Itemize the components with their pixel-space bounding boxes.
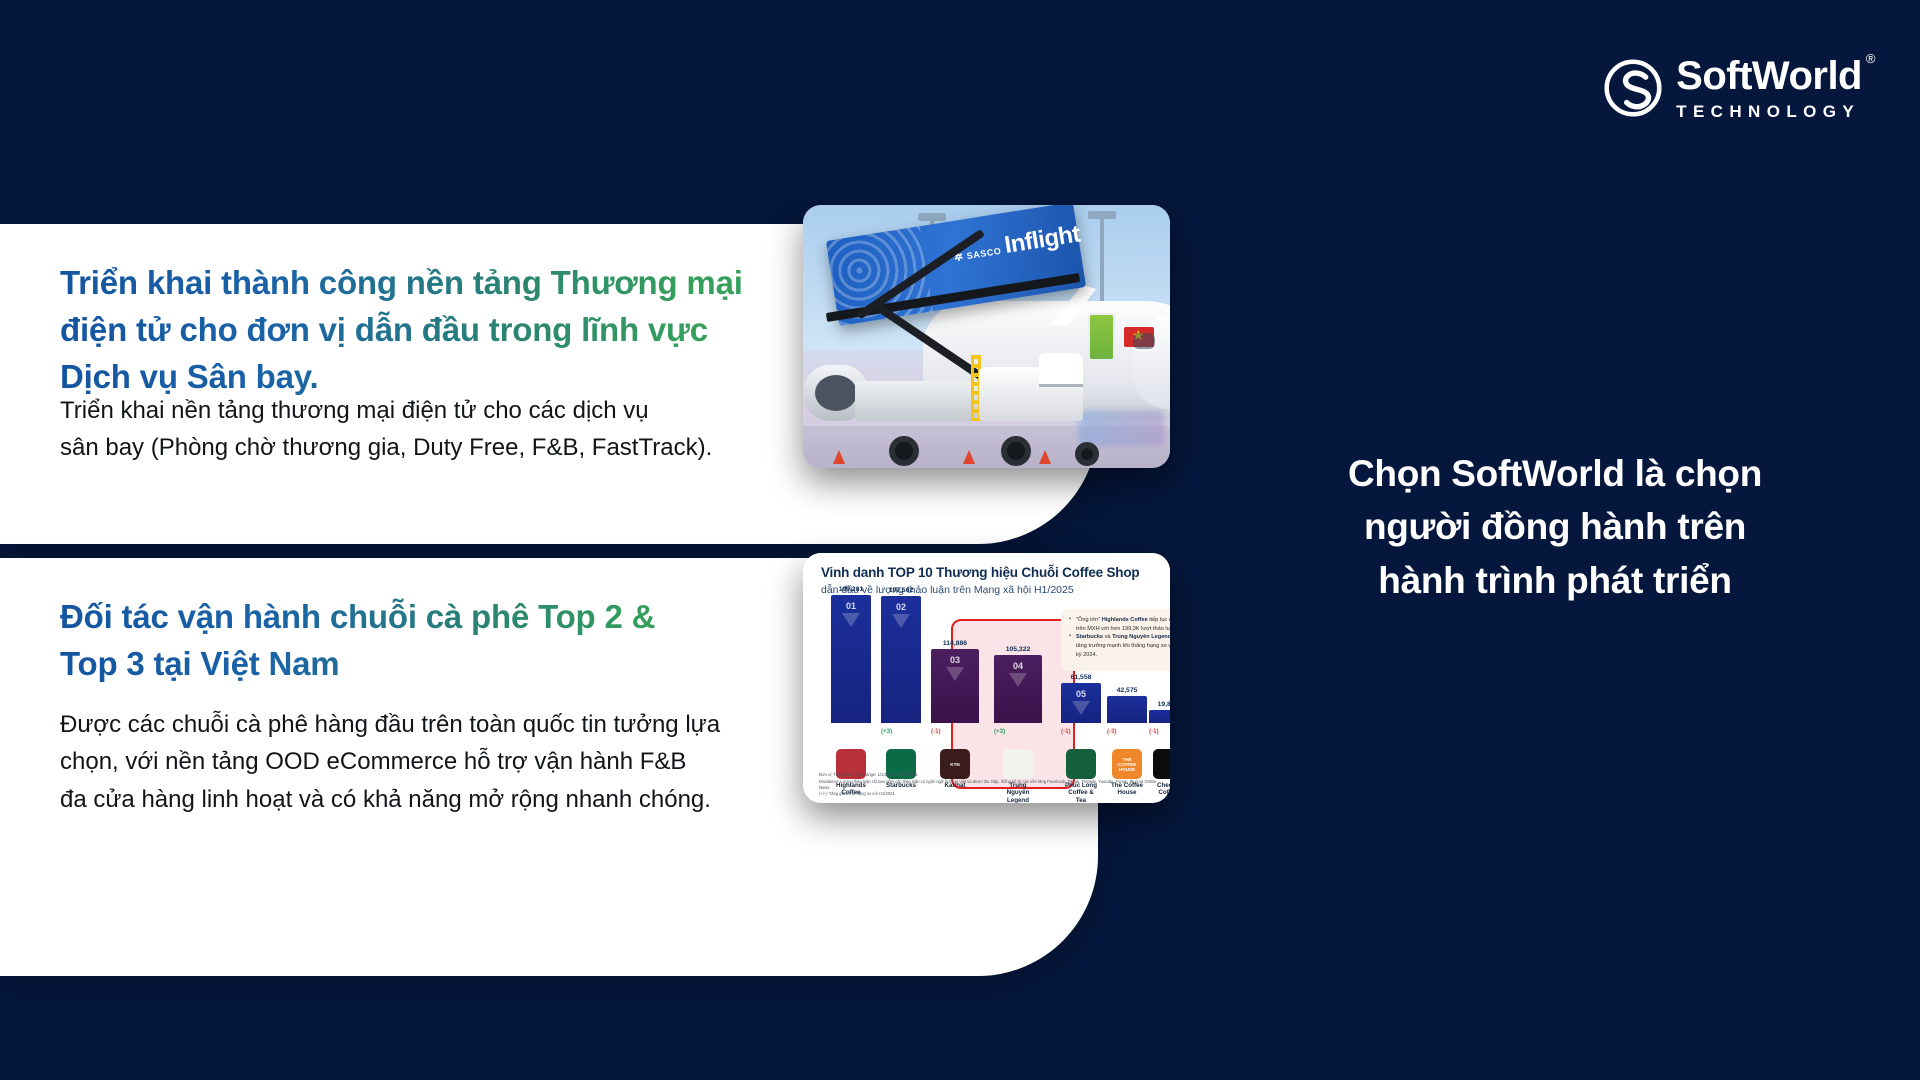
airport-scene: SASCO Inflight <box>803 205 1170 468</box>
bar-delta-label: (-1) <box>1149 728 1159 735</box>
bar-group: 19,823(-1) <box>1149 701 1170 723</box>
bar-rank-label: 04 <box>994 661 1042 671</box>
bar: 01 <box>831 595 871 723</box>
bar: 04(+3) <box>994 655 1042 723</box>
bar: 03(-1) <box>931 649 979 723</box>
rank-chevron-icon <box>842 613 860 627</box>
rank-chevron-icon <box>946 667 964 681</box>
bar-value-label: 114,886 <box>943 640 967 647</box>
brand-logo: SoftWorld ® TECHNOLOGY <box>1604 56 1862 120</box>
bar-rank-label: 03 <box>931 655 979 665</box>
inflight-wordmark: Inflight <box>1003 220 1082 260</box>
airport-photo: SASCO Inflight <box>803 205 1170 468</box>
bar-delta-label: (-3) <box>1107 728 1117 735</box>
slide-root: SoftWorld ® TECHNOLOGY Triển khai thành … <box>0 0 1920 1080</box>
bar: 02(+3) <box>881 596 921 723</box>
bar-group: 197,56202(+3) <box>881 587 921 723</box>
chart-callout: "Ông lớn" Highlands Coffee tiếp tục dẫn … <box>1061 609 1170 671</box>
bar-delta-label: (+3) <box>994 728 1005 735</box>
feature-card-2-title: Đối tác vận hành chuỗi cà phê Top 2 & To… <box>60 594 760 688</box>
chart-title: Vinh danh TOP 10 Thương hiệu Chuỗi Coffe… <box>821 565 1139 580</box>
feature-card-1-body: Triển khai nền tảng thương mại điện tử c… <box>60 392 820 467</box>
bar-group: 199,28101 <box>831 586 871 723</box>
bar-value-label: 105,322 <box>1006 646 1031 653</box>
bar-delta-label: (+3) <box>881 728 892 735</box>
rank-chevron-icon <box>892 614 910 628</box>
callout-item-2: Starbucks và Trung Nguyên Legend có đà t… <box>1069 633 1170 659</box>
chart-footnotes: Đơn vị: Thảo luận | Time range: 1/1/2025… <box>819 772 1164 797</box>
footnote-2: Disclaimer: Lượng thảo luận chỉ bao gồm … <box>819 779 1164 791</box>
bar-rank-label: 05 <box>1061 689 1101 699</box>
tagline: Chọn SoftWorld là chọn người đồng hành t… <box>1265 447 1845 607</box>
bar-delta-label: (-1) <box>931 728 941 735</box>
bar-chart: Vinh danh TOP 10 Thương hiệu Chuỗi Coffe… <box>803 553 1170 803</box>
coffee-chain-chart-image: Vinh danh TOP 10 Thương hiệu Chuỗi Coffe… <box>803 553 1170 803</box>
bar-group: 42,575(-3) <box>1107 687 1147 723</box>
logo-subtitle: TECHNOLOGY <box>1676 103 1862 120</box>
logo-name-text: SoftWorld <box>1676 54 1862 98</box>
rank-chevron-icon <box>1009 673 1027 687</box>
bar: (-3) <box>1107 696 1147 723</box>
bar-group: 61,55805(-1) <box>1061 674 1101 723</box>
bar: (-1) <box>1149 710 1170 723</box>
bar-delta-label: (-1) <box>1061 728 1071 735</box>
feature-card-2-body: Được các chuỗi cà phê hàng đầu trên toàn… <box>60 706 850 818</box>
footnote-3: (+/-): Tăng giảm thứ hạng so với H1/2024 <box>819 791 1164 797</box>
bar-value-label: 61,558 <box>1071 674 1092 681</box>
bar-value-label: 199,281 <box>839 586 864 593</box>
logo-wordmark: SoftWorld ® <box>1676 56 1862 96</box>
bar-value-label: 42,575 <box>1117 687 1138 694</box>
bar-group: 105,32204(+3) <box>994 646 1042 723</box>
rank-chevron-icon <box>1072 701 1090 715</box>
bar: 05(-1) <box>1061 683 1101 723</box>
softworld-s-icon <box>1604 59 1662 117</box>
bar-rank-label: 01 <box>831 601 871 611</box>
bar-value-label: 19,823 <box>1158 701 1170 708</box>
registered-trademark-icon: ® <box>1866 52 1875 65</box>
feature-card-1-title: Triển khai thành công nền tảng Thương mạ… <box>60 260 800 401</box>
callout-item-1: "Ông lớn" Highlands Coffee tiếp tục dẫn … <box>1069 616 1170 633</box>
bar-group: 114,88603(-1) <box>931 640 979 723</box>
bar-rank-label: 02 <box>881 602 921 612</box>
bar-value-label: 197,562 <box>889 587 914 594</box>
